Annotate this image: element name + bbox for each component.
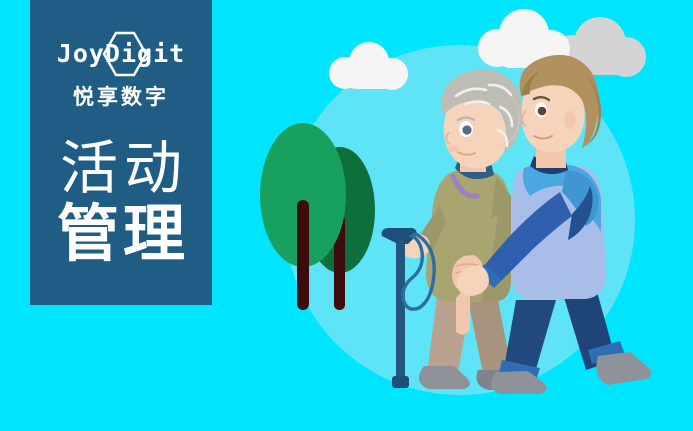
logo-wordmark: JoyDigit — [30, 41, 212, 66]
cloud-left — [329, 42, 408, 90]
title-panel: JoyDigit 悦享数字 活动 管理 — [30, 0, 212, 305]
brand-chinese-name: 悦享数字 — [30, 85, 212, 109]
logo-lockup: JoyDigit — [30, 30, 212, 78]
brand-block: JoyDigit 悦享数字 — [30, 30, 212, 109]
young-shoe-front — [596, 352, 651, 385]
poster-canvas: JoyDigit 悦享数字 活动 管理 — [0, 0, 693, 431]
headline-line-1: 活动 — [30, 136, 212, 200]
headline: 活动 管理 — [30, 136, 212, 268]
headline-line-2: 管理 — [30, 200, 212, 268]
